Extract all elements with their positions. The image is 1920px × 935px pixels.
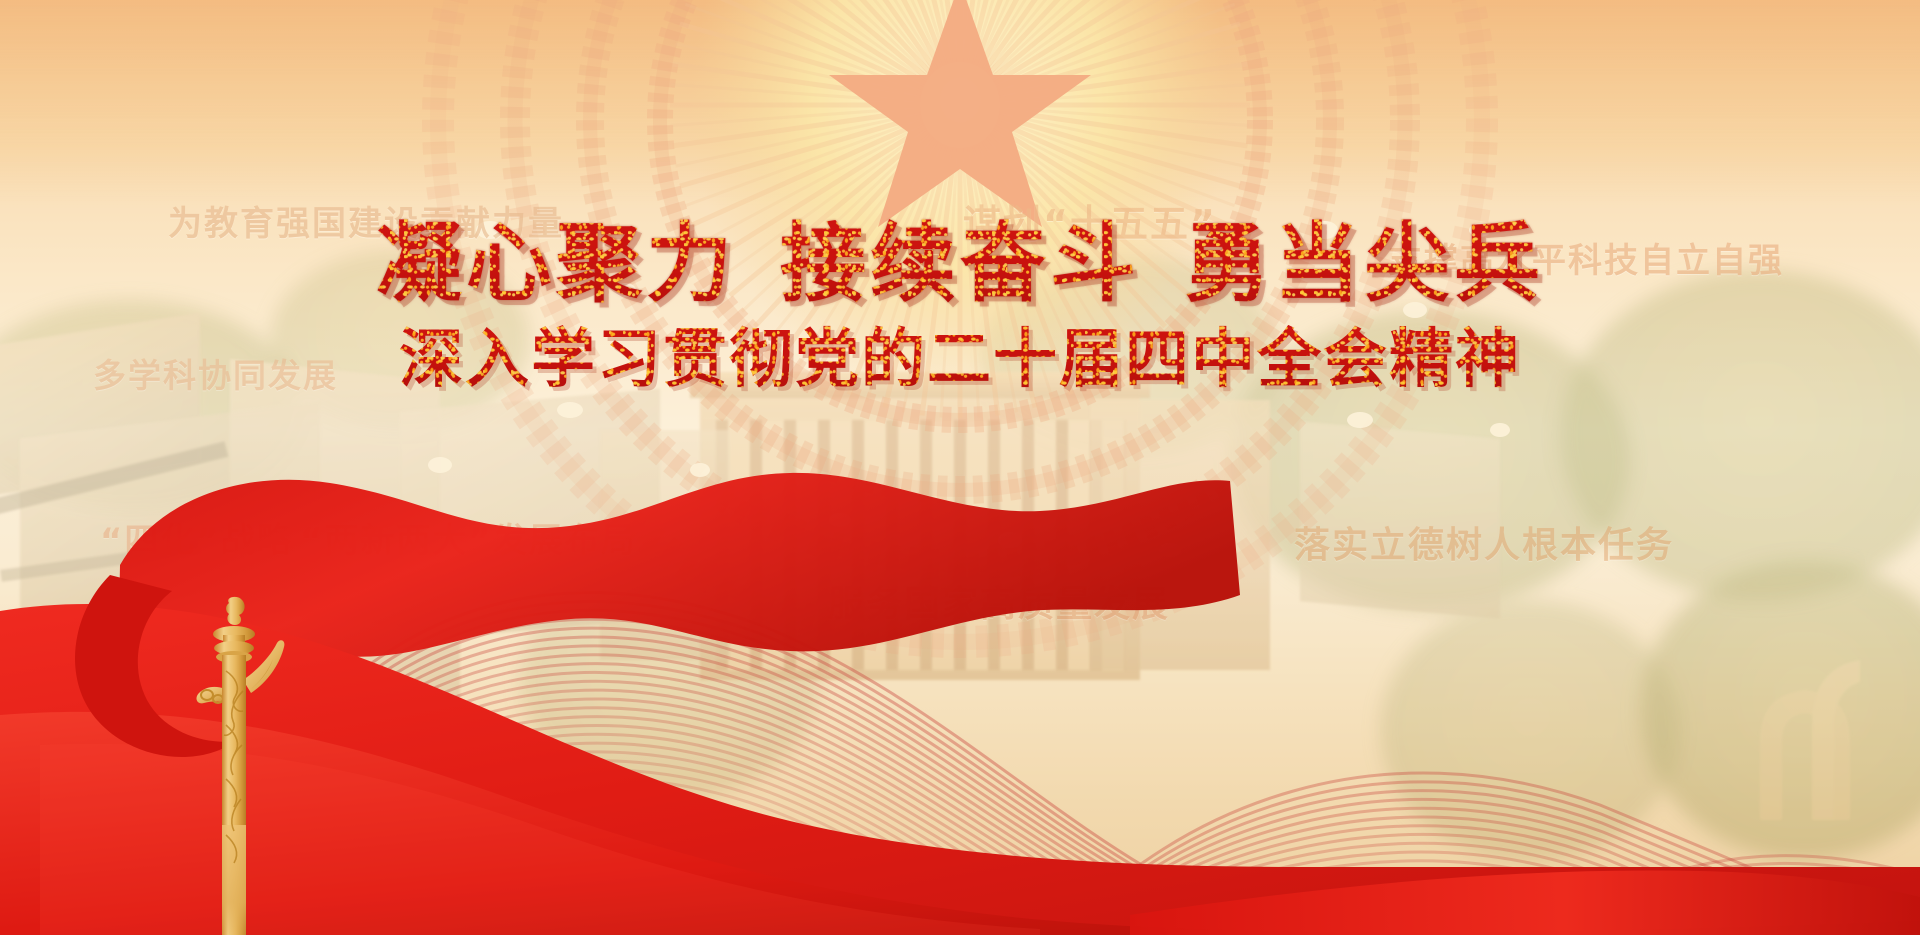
campaign-banner: 为教育强国建设贡献力量 谋划“十五五” 支撑高水平科技自立自强 多学科协同发展 … [0,0,1920,935]
photo-sky-fade [0,0,1920,205]
main-title-part-3: 勇当尖兵 [1184,214,1544,314]
slogan-four-modernizations-strategy: “四化”战略 [100,513,293,562]
campus-arch-gate [1700,620,1920,820]
slogan-two-new-two-big-layout: “两新两大”发展布局 [300,513,637,562]
banner-main-title: 凝心聚力接续奋斗勇当尖兵 [376,218,1544,311]
banner-title-block: 凝心聚力接续奋斗勇当尖兵 深入学习贯彻党的二十届四中全会精神 [0,218,1920,395]
banner-subtitle: 深入学习贯彻党的二十届四中全会精神 [399,325,1521,395]
tree-mass [1380,600,1680,860]
main-title-part-2: 接续奋斗 [780,214,1140,314]
campus-main-hall-colonnade [716,420,1126,670]
slogan-high-quality-development: 服务国家高质量发展 [828,575,1170,627]
campus-aerial-photo [0,0,1920,935]
campus-building [1090,400,1270,670]
main-title-part-1: 凝心聚力 [376,214,736,314]
slogan-moral-education: 落实立德树人根本任务 [1294,516,1674,568]
